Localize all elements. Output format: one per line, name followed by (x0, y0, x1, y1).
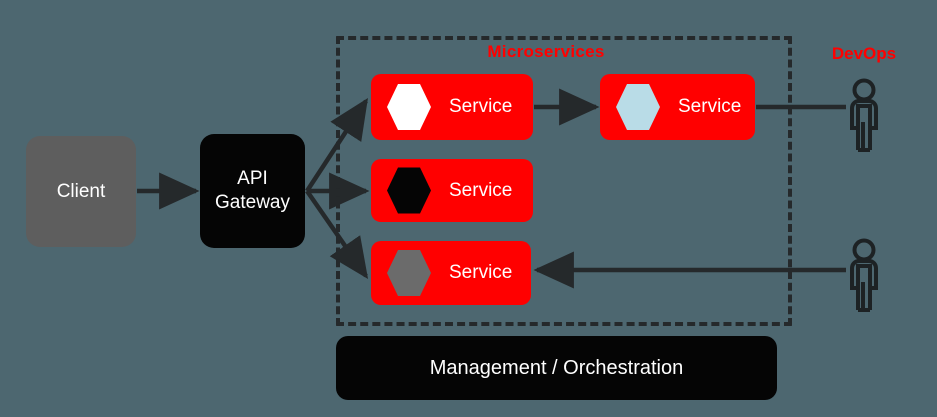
api-gateway-label-line2: Gateway (215, 191, 290, 215)
user-person-icon (838, 238, 890, 314)
client-node[interactable]: Client (26, 136, 136, 247)
hexagon-icon (387, 166, 431, 216)
diagram-canvas: Client API Gateway Microservices Service… (0, 0, 937, 417)
hexagon-icon (616, 82, 660, 132)
management-orchestration-node[interactable]: Management / Orchestration (336, 336, 777, 400)
hexagon-icon (387, 248, 431, 298)
api-gateway-node[interactable]: API Gateway (200, 134, 305, 248)
microservices-group-label: Microservices (336, 42, 756, 62)
management-orchestration-label: Management / Orchestration (430, 357, 683, 380)
service-label: Service (449, 96, 512, 118)
service-card[interactable]: Service (371, 159, 533, 222)
hexagon-icon (387, 82, 431, 132)
service-card[interactable]: Service (371, 74, 533, 140)
api-gateway-label-line1: API (215, 167, 290, 191)
devops-person-icon (838, 78, 890, 154)
service-label: Service (449, 180, 512, 202)
service-label: Service (678, 96, 741, 118)
service-card[interactable]: Service (371, 241, 531, 305)
client-label: Client (57, 181, 106, 203)
service-card[interactable]: Service (600, 74, 755, 140)
devops-group-label: DevOps (800, 44, 928, 64)
service-label: Service (449, 262, 512, 284)
